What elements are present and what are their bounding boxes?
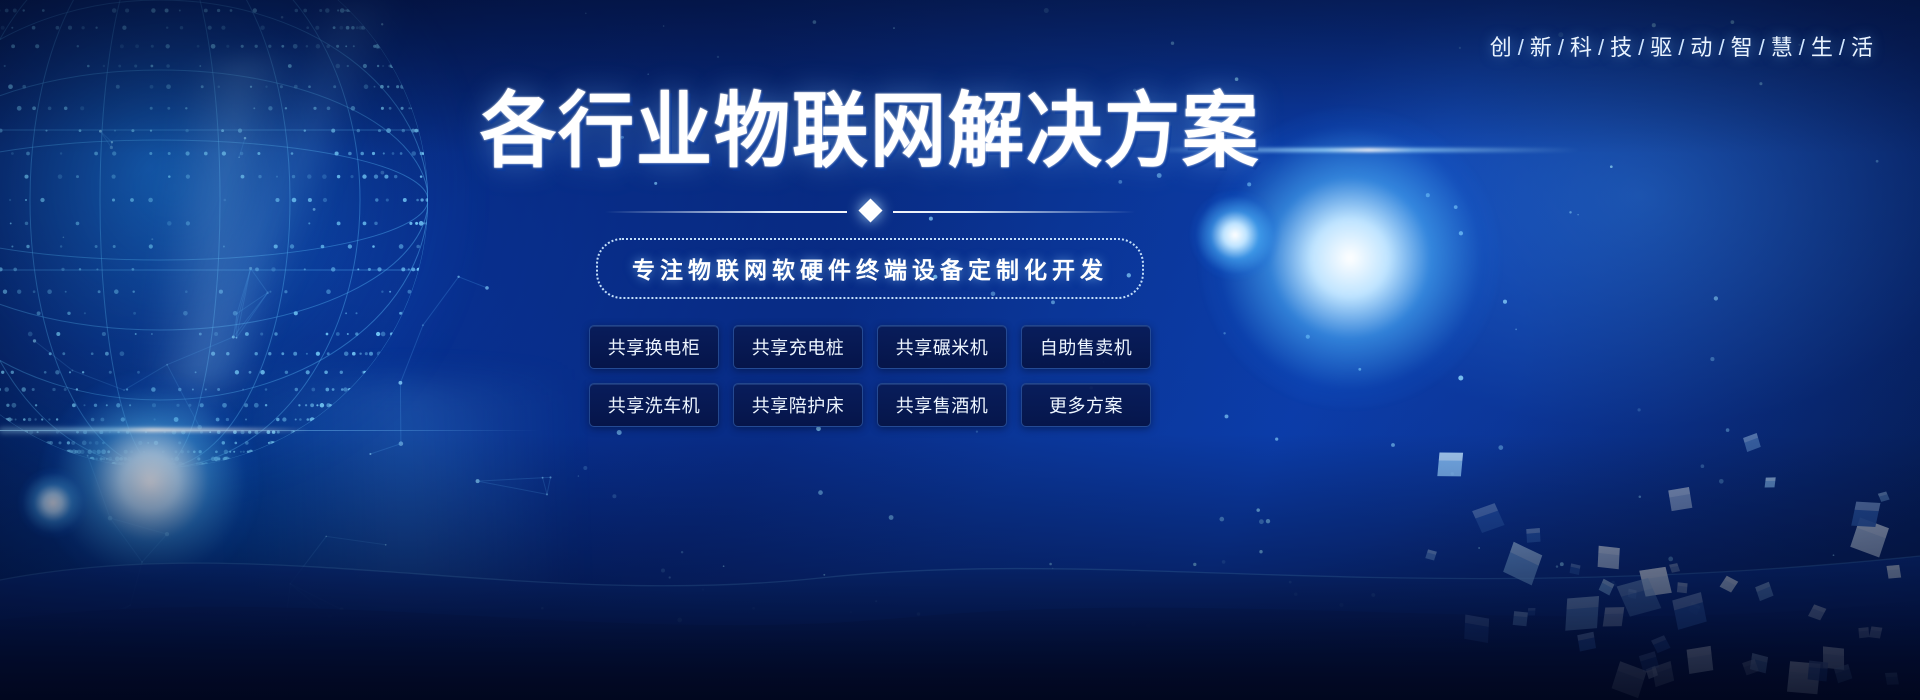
tagline-separator: /	[1518, 35, 1525, 60]
solution-tag[interactable]: 自助售卖机	[1021, 325, 1151, 369]
solution-tag-label: 共享售酒机	[896, 392, 989, 418]
tagline-separator: /	[1839, 35, 1846, 60]
tagline-char: 慧	[1771, 35, 1794, 60]
tagline-char: 智	[1731, 35, 1754, 60]
title-divider	[605, 200, 1135, 222]
solution-tag-label: 更多方案	[1049, 392, 1123, 418]
tagline-char: 技	[1610, 35, 1633, 60]
tagline-char: 科	[1570, 35, 1593, 60]
tagline-char: 活	[1851, 35, 1874, 60]
solution-tag-label: 共享洗车机	[608, 392, 701, 418]
tagline-separator: /	[1799, 35, 1806, 60]
tagline-separator: /	[1638, 35, 1645, 60]
lens-flare-left-streak	[0, 428, 310, 432]
divider-line-right	[893, 211, 1135, 213]
tagline-char: 新	[1530, 35, 1553, 60]
tagline: 创/新/科/技/驱/动/智/慧/生/活	[0, 30, 1874, 62]
solution-tag-label: 共享陪护床	[752, 392, 845, 418]
tagline-char: 创	[1490, 35, 1513, 60]
hero-content: 各行业物联网解决方案 专注物联网软硬件终端设备定制化开发 共享换电柜共享充电桩共…	[460, 92, 1280, 427]
solution-tag-label: 共享充电桩	[752, 334, 845, 360]
diamond-icon	[858, 198, 882, 222]
solution-tag[interactable]: 共享换电柜	[589, 325, 719, 369]
hero-banner: 创/新/科/技/驱/动/智/慧/生/活 各行业物联网解决方案 专注物联网软硬件终…	[0, 0, 1920, 700]
subtitle: 专注物联网软硬件终端设备定制化开发	[596, 238, 1144, 299]
tagline-separator: /	[1598, 35, 1605, 60]
solution-tag[interactable]: 共享充电桩	[733, 325, 863, 369]
tagline-separator: /	[1678, 35, 1685, 60]
tagline-separator: /	[1558, 35, 1565, 60]
solution-tag[interactable]: 共享洗车机	[589, 383, 719, 427]
tagline-char: 生	[1811, 35, 1834, 60]
solution-tag-list: 共享换电柜共享充电桩共享碾米机自助售卖机共享洗车机共享陪护床共享售酒机更多方案	[570, 325, 1170, 427]
solution-tag-label: 共享碾米机	[896, 334, 989, 360]
solution-tag[interactable]: 共享陪护床	[733, 383, 863, 427]
solution-tag-label: 自助售卖机	[1040, 334, 1133, 360]
solution-tag[interactable]: 共享售酒机	[877, 383, 1007, 427]
page-title: 各行业物联网解决方案	[480, 89, 1260, 173]
tagline-char: 驱	[1650, 35, 1673, 60]
globe-decoration	[0, 0, 480, 520]
tagline-char: 动	[1690, 35, 1713, 60]
solution-tag[interactable]: 共享碾米机	[877, 325, 1007, 369]
tagline-separator: /	[1759, 35, 1766, 60]
solution-tag[interactable]: 更多方案	[1021, 383, 1151, 427]
tagline-separator: /	[1718, 35, 1725, 60]
solution-tag-label: 共享换电柜	[608, 334, 701, 360]
cube-cluster	[1300, 380, 1920, 700]
divider-line-left	[605, 211, 847, 213]
